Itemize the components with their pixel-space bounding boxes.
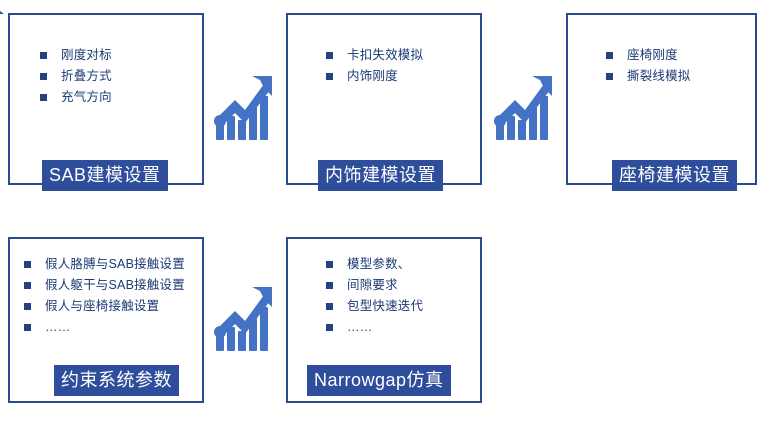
- square-bullet-icon: [326, 52, 333, 59]
- square-bullet-icon: [24, 324, 31, 331]
- process-card-interior-modeling[interactable]: 卡扣失效模拟 内饰刚度 内饰建模设置: [286, 13, 482, 185]
- list-item-label: 包型快速迭代: [347, 299, 423, 314]
- list-item-label: 模型参数、: [347, 257, 411, 272]
- list-item: 间隙要求: [326, 278, 480, 293]
- list-item: 撕裂线模拟: [606, 69, 755, 84]
- square-bullet-icon: [606, 52, 613, 59]
- card-label-restraint-params[interactable]: 约束系统参数: [54, 365, 179, 396]
- list-item-label: 撕裂线模拟: [627, 69, 691, 84]
- square-bullet-icon: [326, 282, 333, 289]
- square-bullet-icon: [326, 324, 333, 331]
- list-item: 刚度对标: [40, 48, 202, 63]
- bullet-list: 座椅刚度 撕裂线模拟: [606, 48, 755, 90]
- square-bullet-icon: [24, 303, 31, 310]
- growth-chart-arrow-icon: [212, 285, 274, 353]
- card-label-interior-modeling[interactable]: 内饰建模设置: [318, 160, 443, 191]
- list-item: 折叠方式: [40, 69, 202, 84]
- bullet-list: 刚度对标 折叠方式 充气方向: [40, 48, 202, 111]
- list-item-label: 内饰刚度: [347, 69, 398, 84]
- process-card-sab-modeling[interactable]: 刚度对标 折叠方式 充气方向 SAB建模设置: [8, 13, 204, 185]
- list-item: 充气方向: [40, 90, 202, 105]
- list-item-label: 折叠方式: [61, 69, 112, 84]
- bullet-list: 假人胳膊与SAB接触设置 假人躯干与SAB接触设置 假人与座椅接触设置 ……: [24, 257, 202, 341]
- square-bullet-icon: [326, 261, 333, 268]
- list-item-label: 充气方向: [61, 90, 112, 105]
- list-item: 假人与座椅接触设置: [24, 299, 202, 314]
- growth-chart-arrow-icon: [492, 74, 554, 142]
- square-bullet-icon: [24, 282, 31, 289]
- square-bullet-icon: [40, 52, 47, 59]
- growth-chart-arrow-icon: [212, 74, 274, 142]
- list-item-label: 假人与座椅接触设置: [45, 299, 159, 314]
- list-item-label: 座椅刚度: [627, 48, 678, 63]
- list-item-label: 假人胳膊与SAB接触设置: [45, 257, 185, 272]
- list-item-label: 刚度对标: [61, 48, 112, 63]
- process-card-narrowgap-sim[interactable]: 模型参数、 间隙要求 包型快速迭代 …… Narrowgap仿真: [286, 237, 482, 403]
- card-label-narrowgap-sim[interactable]: Narrowgap仿真: [307, 365, 451, 396]
- square-bullet-icon: [40, 73, 47, 80]
- list-item: 包型快速迭代: [326, 299, 480, 314]
- list-item: 内饰刚度: [326, 69, 480, 84]
- card-label-sab-modeling[interactable]: SAB建模设置: [42, 160, 168, 191]
- square-bullet-icon: [24, 261, 31, 268]
- list-item: 卡扣失效模拟: [326, 48, 480, 63]
- square-bullet-icon: [326, 73, 333, 80]
- bullet-list: 模型参数、 间隙要求 包型快速迭代 ……: [326, 257, 480, 341]
- list-item-label: ……: [45, 320, 70, 335]
- card-label-seat-modeling[interactable]: 座椅建模设置: [612, 160, 737, 191]
- list-item-label: ……: [347, 320, 372, 335]
- square-bullet-icon: [326, 303, 333, 310]
- list-item: 模型参数、: [326, 257, 480, 272]
- list-item-label: 卡扣失效模拟: [347, 48, 423, 63]
- list-item: 假人躯干与SAB接触设置: [24, 278, 202, 293]
- process-card-restraint-params[interactable]: 假人胳膊与SAB接触设置 假人躯干与SAB接触设置 假人与座椅接触设置 …… 约…: [8, 237, 204, 403]
- list-item: ……: [326, 320, 480, 335]
- list-item: 座椅刚度: [606, 48, 755, 63]
- corner-accent-mark: [0, 0, 14, 14]
- bullet-list: 卡扣失效模拟 内饰刚度: [326, 48, 480, 90]
- process-card-seat-modeling[interactable]: 座椅刚度 撕裂线模拟 座椅建模设置: [566, 13, 757, 185]
- diagram-canvas: 刚度对标 折叠方式 充气方向 SAB建模设置: [0, 0, 769, 421]
- list-item-label: 间隙要求: [347, 278, 398, 293]
- list-item-label: 假人躯干与SAB接触设置: [45, 278, 185, 293]
- list-item: 假人胳膊与SAB接触设置: [24, 257, 202, 272]
- square-bullet-icon: [606, 73, 613, 80]
- square-bullet-icon: [40, 94, 47, 101]
- list-item: ……: [24, 320, 202, 335]
